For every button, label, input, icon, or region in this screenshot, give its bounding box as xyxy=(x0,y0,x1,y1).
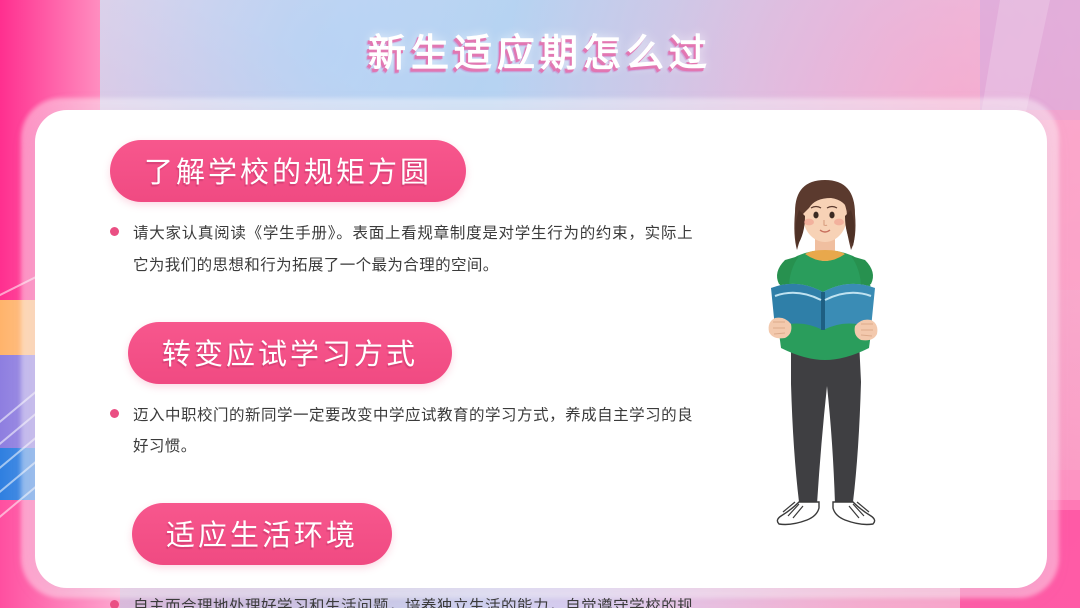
section-1-body: 请大家认真阅读《学生手册》。表面上看规章制度是对学生行为的约束，实际上它为我们的… xyxy=(133,218,693,282)
section-2-body: 迈入中职校门的新同学一定要改变中学应试教育的学习方式，养成自主学习的良好习惯。 xyxy=(133,400,693,464)
section-3: 适应生活环境 自主而合理地处理好学习和生活问题，培养独立生活的能力，自觉遵守学校… xyxy=(110,503,710,608)
section-2-paragraph: 迈入中职校门的新同学一定要改变中学应试教育的学习方式，养成自主学习的良好习惯。 xyxy=(110,400,710,464)
bullet-dot-icon xyxy=(110,600,119,608)
section-3-paragraph: 自主而合理地处理好学习和生活问题，培养独立生活的能力，自觉遵守学校的规章制度和作… xyxy=(110,591,710,608)
bullet-dot-icon xyxy=(110,409,119,418)
section-1: 了解学校的规矩方圆 请大家认真阅读《学生手册》。表面上看规章制度是对学生行为的约… xyxy=(110,140,710,282)
content-area: 了解学校的规矩方圆 请大家认真阅读《学生手册》。表面上看规章制度是对学生行为的约… xyxy=(110,140,710,608)
page-title: 新生适应期怎么过 xyxy=(0,22,1080,77)
woman-reading-book-illustration xyxy=(735,172,915,532)
section-2: 转变应试学习方式 迈入中职校门的新同学一定要改变中学应试教育的学习方式，养成自主… xyxy=(110,322,710,464)
shoe-right-icon xyxy=(833,502,875,525)
pants-shape xyxy=(791,340,861,504)
shoe-left-icon xyxy=(777,502,819,525)
cheek-right xyxy=(834,219,844,226)
bullet-dot-icon xyxy=(110,227,119,236)
cheek-left xyxy=(804,219,814,226)
section-3-heading: 适应生活环境 xyxy=(132,503,392,565)
eye-left xyxy=(813,212,818,219)
section-1-paragraph: 请大家认真阅读《学生手册》。表面上看规章制度是对学生行为的约束，实际上它为我们的… xyxy=(110,218,710,282)
section-1-heading: 了解学校的规矩方圆 xyxy=(110,140,466,202)
section-3-body: 自主而合理地处理好学习和生活问题，培养独立生活的能力，自觉遵守学校的规章制度和作… xyxy=(133,591,693,608)
section-2-heading: 转变应试学习方式 xyxy=(128,322,452,384)
slide-canvas: 新生适应期怎么过 了解学校的规矩方圆 请大家认真阅读《学生手册》。表面上看规章制… xyxy=(0,0,1080,608)
eye-right xyxy=(829,212,834,219)
